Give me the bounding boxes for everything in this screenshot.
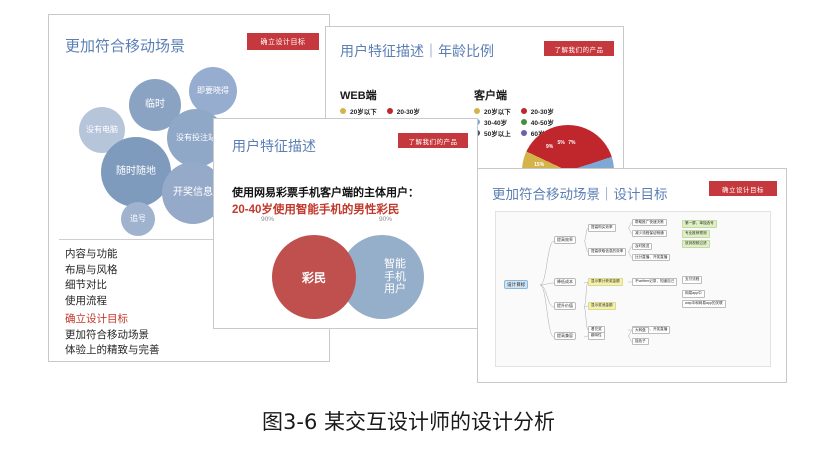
mindmap-leaf: 帮助推广快速决策: [632, 219, 667, 227]
slide1-goal-button[interactable]: 确立设计目标: [247, 33, 319, 50]
mindmap-branch: 提高兼容: [554, 332, 576, 340]
mindmap-annotation: 支付流程: [682, 276, 702, 284]
pie-slice-label: 7%: [568, 140, 575, 146]
slide-design-goal[interactable]: 更加符合移动场景｜设计目标 确立设计目标 设计目标提高效率提高购买效率帮助推广快…: [477, 168, 787, 383]
list-item: 细节对比: [65, 278, 118, 294]
legend-swatch: [387, 108, 393, 114]
mindmap-leaf: 减少流程保证畅通: [632, 230, 667, 238]
legend-item: 20岁以下: [340, 106, 377, 116]
legend-swatch: [521, 108, 527, 114]
list-item: 确立设计目标: [65, 312, 160, 328]
list-item: 内容与功能: [65, 247, 118, 263]
figure-stage: 更加符合移动场景 确立设计目标 临时即要晓得没有电脑没有投注站随时随地开奖信息追…: [0, 0, 817, 457]
legend-item: 30-40岁: [474, 117, 511, 127]
legend-swatch: [340, 108, 346, 114]
mindmap-leaf: 比分直播、开奖直播: [632, 254, 670, 262]
slide-user-profile[interactable]: 用户特征描述 了解我们的产品 使用网易彩票手机客户端的主体用户： 20-40岁使…: [213, 118, 478, 329]
mindmap: 设计目标提高效率提高购买效率帮助推广快速决策减少流程保证畅通提高获取信息的效率及…: [496, 212, 770, 366]
legend-item: 20-30岁: [521, 106, 558, 116]
slide4-title: 更加符合移动场景｜设计目标: [492, 183, 668, 203]
mindmap-annotation: wap中和网易app的关联: [682, 300, 726, 308]
mindmap-branch: 提高效率: [554, 236, 576, 244]
pie-slice-label: 9%: [546, 144, 553, 150]
mindmap-branch: 提升价值: [554, 302, 576, 310]
mindmap-annotation: 第一屏、单独选号: [682, 220, 717, 228]
list-item: 布局与风格: [65, 263, 118, 279]
mindmap-leaf: 不written记录，知道自己: [632, 278, 677, 286]
mindmap-subnode: 显示累计获奖金额: [588, 278, 623, 286]
legend-item: 20岁以下: [474, 106, 511, 116]
slide3-percent-left: 90%: [261, 216, 274, 223]
venn-right-label: 智能手机用户: [384, 258, 406, 296]
bubble-5: 随时随地: [101, 137, 171, 207]
mindmap-leaf: 及时推送: [632, 243, 652, 251]
legend-label: 20岁以下: [350, 106, 377, 116]
slide1-list-top: 内容与功能布局与风格细节对比使用流程: [65, 247, 118, 309]
list-item: 更加符合移动场景: [65, 328, 160, 344]
legend-swatch: [521, 130, 527, 136]
list-item: 使用流程: [65, 294, 118, 310]
legend-label: 40-50岁: [531, 117, 554, 127]
legend-item: 50岁以上: [474, 128, 511, 138]
list-item: 体验上的精致与完善: [65, 343, 160, 359]
legend-label: 20岁以下: [484, 106, 511, 116]
figure-caption: 图3-6 某交互设计师的设计分析: [0, 406, 817, 436]
mindmap-root: 设计目标: [504, 280, 528, 289]
bubble-2: 即要晓得: [189, 67, 237, 115]
legend-group-title: 客户端: [474, 87, 567, 103]
mindmap-annotation: 放到视频过滤: [682, 240, 710, 248]
legend-swatch: [521, 119, 527, 125]
mindmap-subnode: 提高购买效率: [588, 224, 616, 232]
legend-label: 30-40岁: [484, 117, 507, 127]
legend-column: 20岁以下30-40岁50岁以上: [474, 106, 511, 139]
mindmap-branch: 降低成本: [554, 278, 576, 286]
slide2-product-button[interactable]: 了解我们的产品: [544, 41, 614, 56]
mindmap-subnode: 趣味性: [588, 332, 605, 340]
legend-label: 50岁以上: [484, 128, 511, 138]
legend-swatch: [474, 108, 480, 114]
pie-slice-label: 5%: [558, 140, 565, 146]
legend-group-title: WEB端: [340, 87, 433, 103]
venn-circle-left: 彩民: [272, 235, 356, 319]
slide4-goal-button[interactable]: 确立设计目标: [709, 181, 777, 196]
legend-item: 40-50岁: [521, 117, 558, 127]
mindmap-subnode: 提高获取信息的效率: [588, 248, 626, 256]
legend-label: 20-30岁: [531, 106, 554, 116]
mindmap-annotation: 网易app中: [682, 290, 705, 298]
legend-item: 20-30岁: [387, 106, 424, 116]
slide3-sentence-2: 20-40岁使用智能手机的男性彩民: [232, 201, 399, 217]
slide1-title: 更加符合移动场景: [65, 35, 185, 56]
slide1-list-bottom: 确立设计目标更加符合移动场景体验上的精致与完善: [65, 312, 160, 359]
pie-slice-label: 15%: [534, 162, 544, 168]
slide3-title: 用户特征描述: [232, 136, 316, 156]
slide3-sentence-1: 使用网易彩票手机客户端的主体用户：: [232, 184, 419, 200]
slide3-percent-right: 90%: [379, 216, 392, 223]
mindmap-frame: 设计目标提高效率提高购买效率帮助推广快速决策减少流程保证畅通提高获取信息的效率及…: [495, 211, 771, 367]
mindmap-annotation: 专业推荐预测: [682, 230, 710, 238]
legend-label: 20-30岁: [397, 106, 420, 116]
bubble-7: 追号: [121, 202, 155, 236]
mindmap-leaf: 摇色子: [632, 338, 649, 346]
slide3-product-button[interactable]: 了解我们的产品: [398, 133, 468, 148]
mindmap-subnode: 显示奖池金额: [588, 302, 616, 310]
mindmap-leaf: 大转盘: [632, 327, 649, 335]
slide2-title: 用户特征描述｜年龄比例: [340, 41, 494, 61]
